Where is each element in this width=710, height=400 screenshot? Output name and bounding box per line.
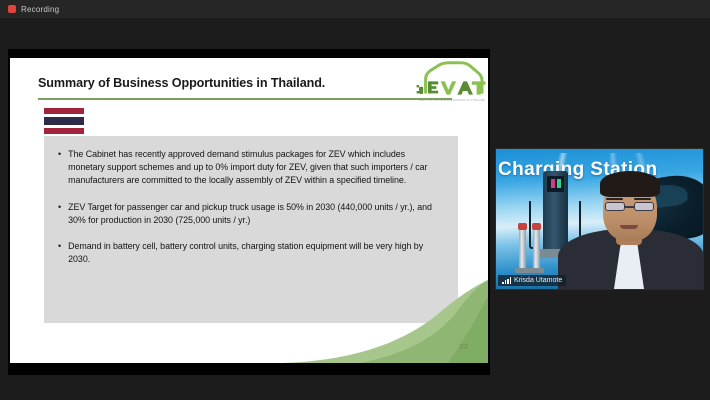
participant-name: Krisda Utamote: [514, 277, 562, 284]
recording-indicator-icon: [8, 5, 16, 13]
list-item: • ZEV Target for passenger car and picku…: [58, 201, 442, 227]
list-item: • The Cabinet has recently approved dema…: [58, 148, 442, 188]
evat-logo-subtitle: ELECTRIC VEHICLE ASSOCIATION OF THAILAND: [416, 99, 488, 102]
recording-bar: Recording: [0, 0, 710, 18]
bollard-graphic: [533, 229, 540, 269]
title-divider: [38, 98, 452, 100]
bollard-graphic: [519, 229, 526, 269]
evat-logo-icon: [416, 61, 488, 103]
slide-page-number: 22: [460, 342, 468, 351]
participant-name-label: Krisda Utamote: [498, 275, 566, 286]
page-title: Summary of Business Opportunities in Tha…: [38, 76, 325, 90]
eyeglasses-graphic: [604, 202, 656, 211]
slide-decoration-swoosh: [252, 280, 488, 363]
shared-slide[interactable]: Summary of Business Opportunities in Tha…: [10, 58, 488, 363]
list-item: • Demand in battery cell, battery contro…: [58, 240, 442, 266]
bullet-marker: •: [58, 240, 61, 266]
participant-video-tile[interactable]: Charging Station: [495, 148, 704, 290]
bullet-marker: •: [58, 201, 61, 227]
bullet-text: The Cabinet has recently approved demand…: [68, 148, 442, 188]
signal-bars-icon: [502, 277, 511, 284]
bullet-marker: •: [58, 148, 61, 188]
participant-person: [556, 167, 704, 289]
bullet-text: ZEV Target for passenger car and pickup …: [68, 201, 442, 227]
bullet-text: Demand in battery cell, battery control …: [68, 240, 442, 266]
thailand-flag-icon: [44, 108, 84, 134]
presentation-stage: Summary of Business Opportunities in Tha…: [0, 18, 710, 400]
recording-label: Recording: [21, 5, 59, 14]
